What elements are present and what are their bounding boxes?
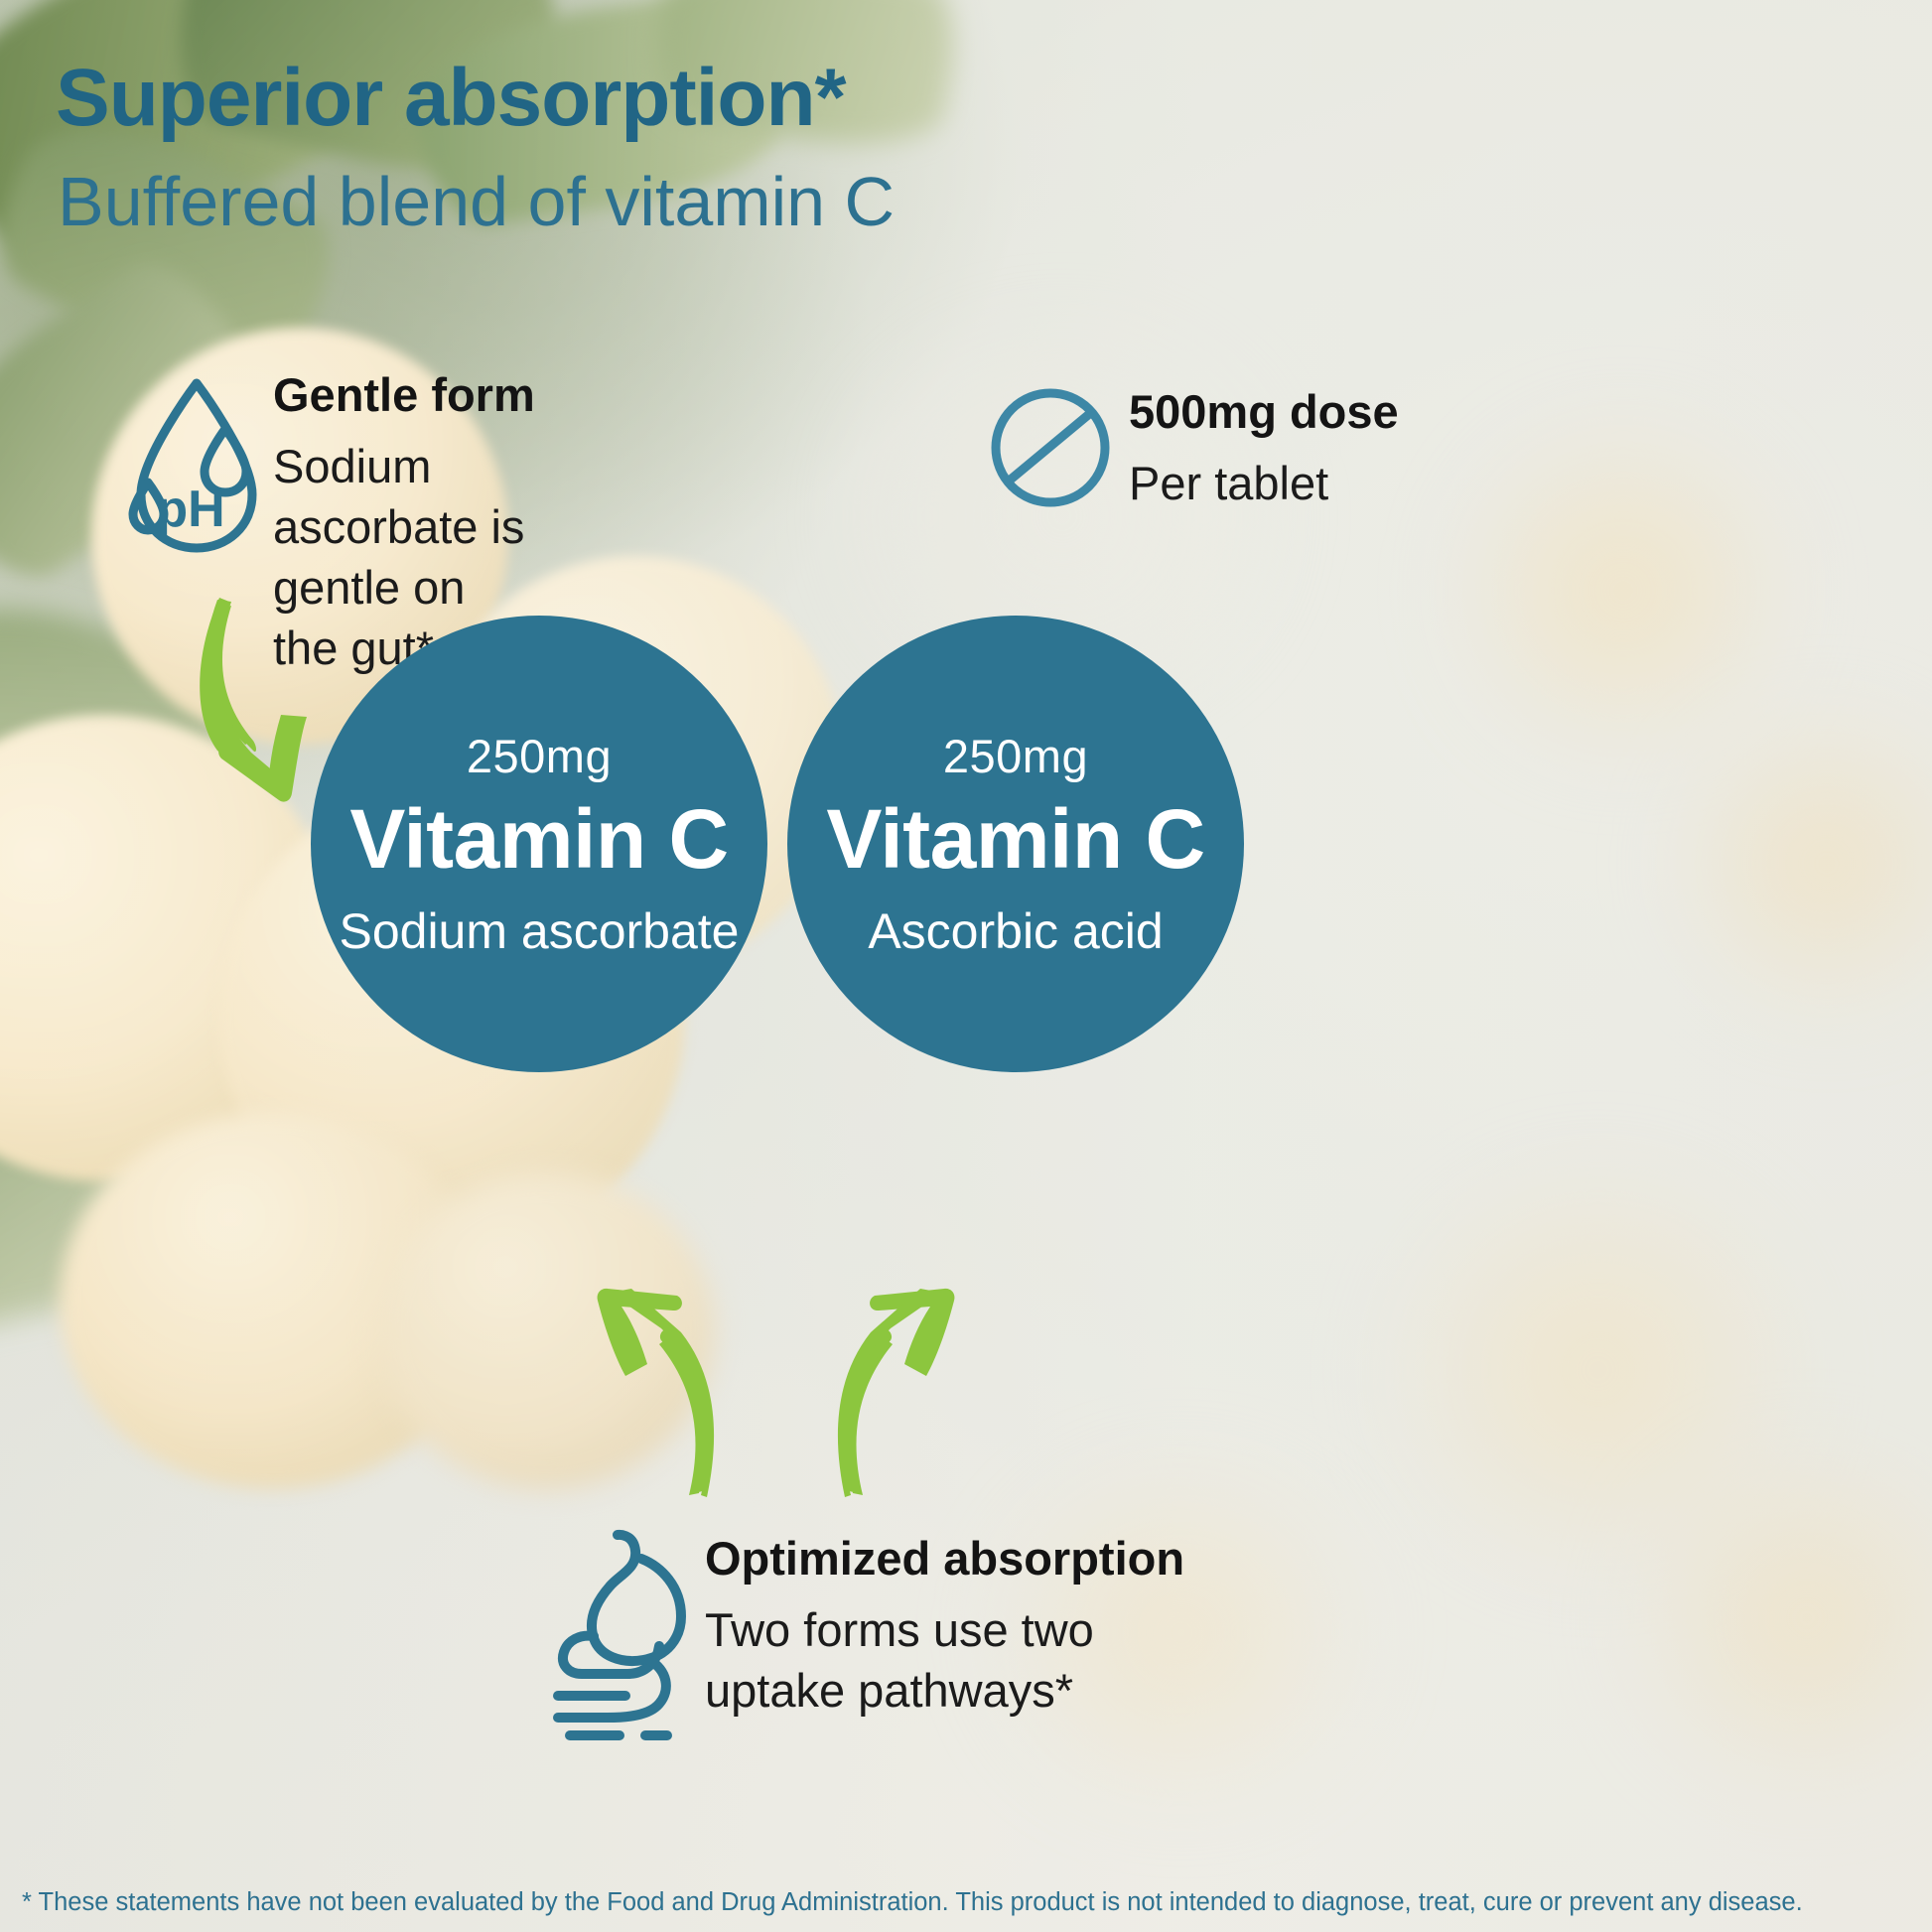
feature-title: Gentle form (273, 369, 535, 422)
page-title: Superior absorption* (56, 56, 846, 142)
feature-title: 500mg dose (1129, 386, 1399, 439)
tablet-icon (988, 385, 1113, 510)
circle-name: Vitamin C (826, 797, 1204, 881)
feature-body-line2: uptake pathways* (705, 1660, 1184, 1721)
legal-disclaimer: * These statements have not been evaluat… (22, 1887, 1910, 1918)
circle-sodium-ascorbate: 250mg Vitamin C Sodium ascorbate (311, 616, 767, 1072)
circle-form: Ascorbic acid (868, 906, 1163, 956)
circle-dose: 250mg (467, 733, 612, 779)
stomach-icon (550, 1529, 709, 1742)
arrow-absorption-right-icon (827, 1287, 956, 1505)
circle-dose: 250mg (943, 733, 1088, 779)
ph-droplet-icon: pH (117, 365, 276, 564)
arrow-absorption-left-icon (596, 1287, 725, 1505)
circle-form: Sodium ascorbate (339, 906, 739, 956)
page-subtitle: Buffered blend of vitamin C (58, 165, 895, 238)
feature-body-line1: Two forms use two (705, 1599, 1184, 1660)
feature-title: Optimized absorption (705, 1533, 1184, 1586)
circle-ascorbic-acid: 250mg Vitamin C Ascorbic acid (787, 616, 1244, 1072)
ph-icon-label: pH (156, 481, 224, 538)
feature-body-line1: Sodium ascorbate is (273, 436, 535, 557)
circle-name: Vitamin C (349, 797, 728, 881)
feature-body-line1: Per tablet (1129, 453, 1399, 513)
